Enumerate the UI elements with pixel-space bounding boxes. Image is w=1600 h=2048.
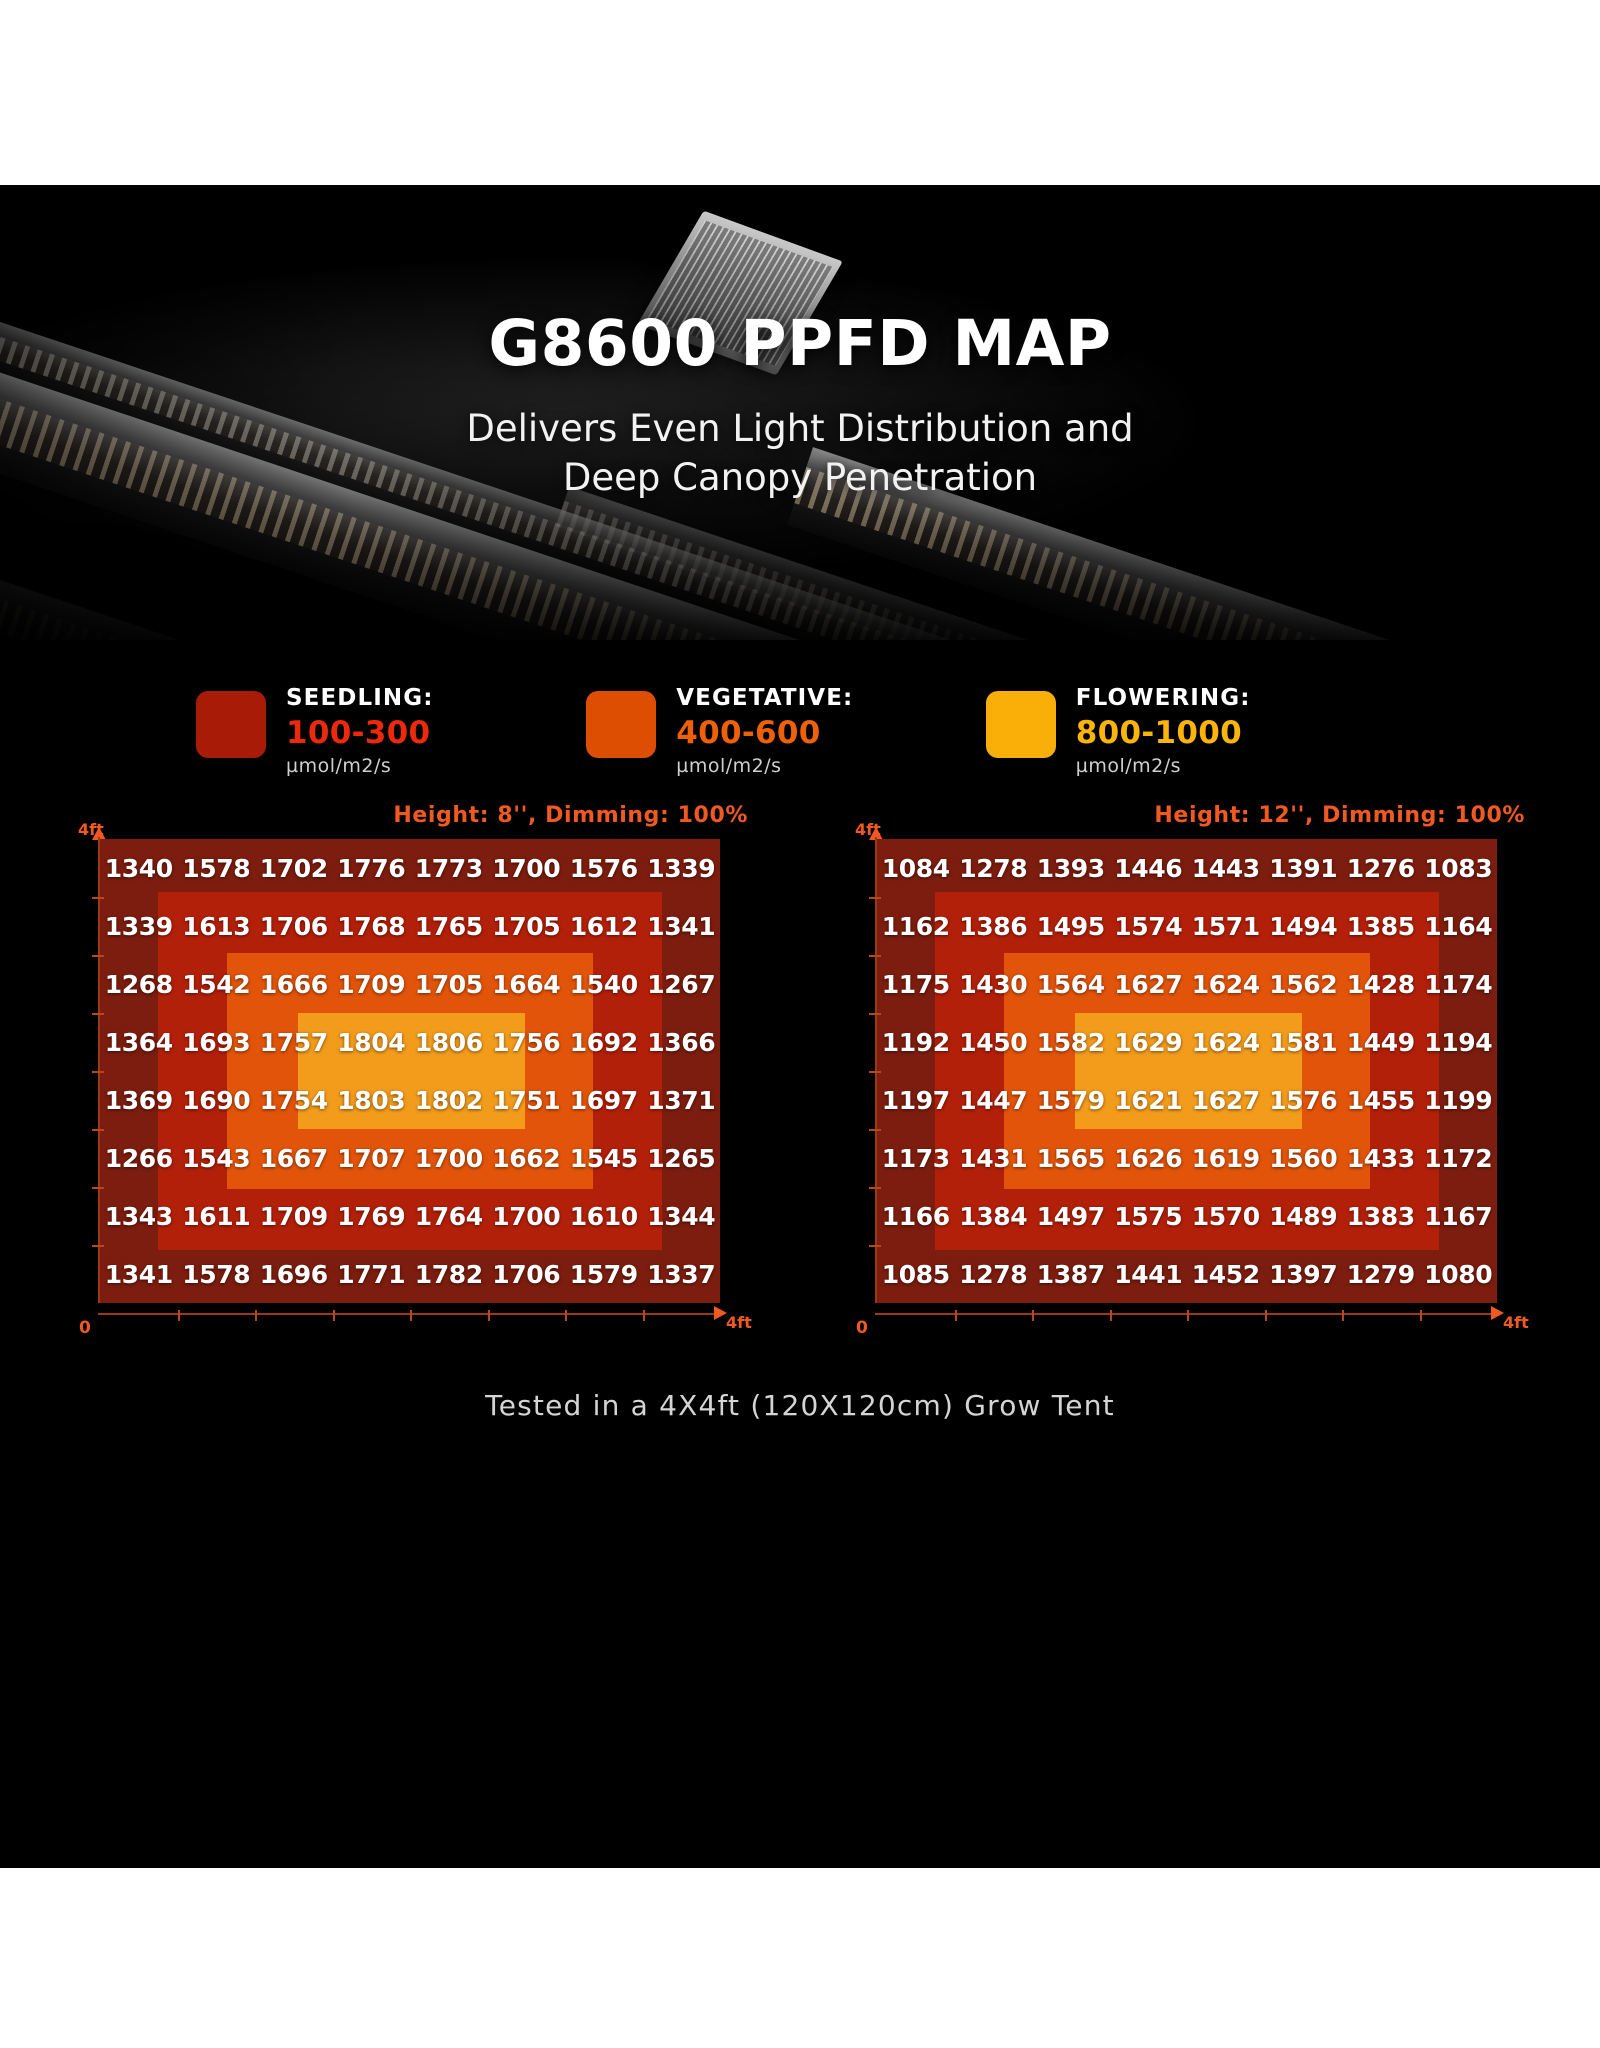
x-axis-tick [1032,1310,1034,1321]
subtitle-line-1: Delivers Even Light Distribution and [0,404,1600,453]
heatmap-cell: 1085 [877,1245,955,1303]
y-axis-tick [92,1245,104,1247]
heatmap-cell: 1578 [178,839,256,897]
heatmap-cell: 1337 [643,1245,721,1303]
heatmap-cell: 1565 [1032,1129,1110,1187]
x-axis-tick [1420,1310,1422,1321]
heatmap-cell: 1495 [1032,897,1110,955]
subtitle-line-2: Deep Canopy Penetration [0,453,1600,502]
heatmap-cell: 1393 [1032,839,1110,897]
heatmap-cell: 1080 [1420,1245,1498,1303]
heatmap-cell: 1576 [1265,1071,1343,1129]
heatmap-plot-12in: 1084127813931446144313911276108311621386… [877,839,1497,1303]
heatmap-cell: 1387 [1032,1245,1110,1303]
heatmap-cell: 1579 [565,1245,643,1303]
heatmap-cell: 1709 [333,955,411,1013]
heatmap-cell: 1776 [333,839,411,897]
x-axis-line [875,1313,1497,1315]
heatmap-cell: 1450 [955,1013,1033,1071]
heatmap-cell: 1626 [1110,1129,1188,1187]
heatmap-cell: 1757 [255,1013,333,1071]
heatmap-cell: 1447 [955,1071,1033,1129]
heatmap-cell: 1621 [1110,1071,1188,1129]
heatmap-cell: 1613 [178,897,256,955]
heatmap-title-12in: Height: 12'', Dimming: 100% [1154,803,1525,828]
legend-label-flowering: FLOWERING: [1076,685,1251,711]
legend-range-flowering: 800-1000 [1076,715,1251,751]
y-axis-tick [869,1245,881,1247]
y-axis-tick [869,1013,881,1015]
legend-unit-seedling: µmol/m2/s [286,755,434,777]
heatmap-cell: 1164 [1420,897,1498,955]
y-axis-tick [92,897,104,899]
heatmap-cell: 1582 [1032,1013,1110,1071]
x-axis-line [98,1313,720,1315]
heatmap-cell: 1627 [1187,1071,1265,1129]
heatmap-cell: 1341 [100,1245,178,1303]
x-axis-tick [1342,1310,1344,1321]
x-axis-tick [1110,1310,1112,1321]
heatmap-cell: 1560 [1265,1129,1343,1187]
heatmap-cell: 1571 [1187,897,1265,955]
legend-range-seedling: 100-300 [286,715,434,751]
heatmap-cell: 1764 [410,1187,488,1245]
poster-dark-area: G8600 PPFD MAP Delivers Even Light Distr… [0,185,1600,1868]
heatmap-cell: 1174 [1420,955,1498,1013]
heatmap-cell: 1162 [877,897,955,955]
heatmap-cell: 1581 [1265,1013,1343,1071]
heatmap-cell: 1489 [1265,1187,1343,1245]
heatmap-cell: 1197 [877,1071,955,1129]
heatmap-title-8in: Height: 8'', Dimming: 100% [393,803,748,828]
heatmap-cell: 1664 [488,955,566,1013]
heatmap-cell: 1540 [565,955,643,1013]
test-condition-caption: Tested in a 4X4ft (120X120cm) Grow Tent [0,1389,1600,1422]
heatmap-cell: 1612 [565,897,643,955]
heatmap-cell: 1803 [333,1071,411,1129]
ppfd-heatmap-height-8in: Height: 8'', Dimming: 100% 4ft 4ft 0 134… [78,803,778,1363]
heatmap-cell: 1693 [178,1013,256,1071]
heatmap-cell: 1700 [488,839,566,897]
heatmap-cell: 1578 [178,1245,256,1303]
y-axis-tick [869,1187,881,1189]
heatmap-cell: 1167 [1420,1187,1498,1245]
legend-item-seedling: SEEDLING: 100-300 µmol/m2/s [196,685,586,777]
ppfd-heatmaps: Height: 8'', Dimming: 100% 4ft 4ft 0 134… [0,803,1600,1363]
heatmap-cell: 1564 [1032,955,1110,1013]
x-axis-tick [565,1310,567,1321]
heatmap-cell: 1627 [1110,955,1188,1013]
x-axis-tick [1265,1310,1267,1321]
heatmap-cell: 1706 [488,1245,566,1303]
legend-range-vegetative: 400-600 [676,715,853,751]
heatmap-cells-8in: 1340157817021776177317001576133913391613… [100,839,720,1303]
heatmap-cell: 1575 [1110,1187,1188,1245]
heatmap-cell: 1428 [1342,955,1420,1013]
heatmap-cell: 1449 [1342,1013,1420,1071]
heatmap-cell: 1806 [410,1013,488,1071]
heatmap-cell: 1166 [877,1187,955,1245]
legend-unit-vegetative: µmol/m2/s [676,755,853,777]
heatmap-cell: 1366 [643,1013,721,1071]
x-axis-tick [643,1310,645,1321]
heatmap-cell: 1364 [100,1013,178,1071]
heatmap-cell: 1083 [1420,839,1498,897]
heatmap-cell: 1172 [1420,1129,1498,1187]
heatmap-cell: 1340 [100,839,178,897]
heatmap-cell: 1278 [955,839,1033,897]
x-axis-tick [255,1310,257,1321]
heatmap-cell: 1576 [565,839,643,897]
y-axis-tick [869,1071,881,1073]
heatmap-cell: 1369 [100,1071,178,1129]
heatmap-cell: 1433 [1342,1129,1420,1187]
heatmap-cell: 1267 [643,955,721,1013]
heatmap-cell: 1494 [1265,897,1343,955]
heatmap-cell: 1173 [877,1129,955,1187]
heatmap-cell: 1084 [877,839,955,897]
x-axis-label-8in: 4ft [726,1313,752,1332]
heatmap-cell: 1452 [1187,1245,1265,1303]
y-axis-tick [869,1129,881,1131]
heatmap-cell: 1431 [955,1129,1033,1187]
heatmap-cell: 1705 [488,897,566,955]
heatmap-cell: 1802 [410,1071,488,1129]
page-subtitle: Delivers Even Light Distribution and Dee… [0,404,1600,502]
heatmap-cell: 1443 [1187,839,1265,897]
heatmap-cell: 1709 [255,1187,333,1245]
heatmap-cell: 1705 [410,955,488,1013]
heatmap-cell: 1700 [410,1129,488,1187]
axis-origin-label-8in: 0 [79,1318,91,1338]
heatmap-cell: 1782 [410,1245,488,1303]
axis-origin-label-12in: 0 [856,1318,868,1338]
heatmap-cell: 1430 [955,955,1033,1013]
x-axis-tick [1187,1310,1189,1321]
heatmap-cell: 1384 [955,1187,1033,1245]
heatmap-cell: 1383 [1342,1187,1420,1245]
heatmap-plot-8in: 1340157817021776177317001576133913391613… [100,839,720,1303]
page-title: G8600 PPFD MAP [0,307,1600,380]
heatmap-cell: 1619 [1187,1129,1265,1187]
heatmap-cell: 1543 [178,1129,256,1187]
legend-label-vegetative: VEGETATIVE: [676,685,853,711]
heatmap-cell: 1391 [1265,839,1343,897]
legend-item-flowering: FLOWERING: 800-1000 µmol/m2/s [986,685,1376,777]
heatmap-cell: 1371 [643,1071,721,1129]
ppfd-stage-legend: SEEDLING: 100-300 µmol/m2/s VEGETATIVE: … [196,685,1376,777]
x-axis-tick [488,1310,490,1321]
y-axis-tick [92,1129,104,1131]
heatmap-cell: 1276 [1342,839,1420,897]
heatmap-cell: 1756 [488,1013,566,1071]
heatmap-cell: 1339 [100,897,178,955]
y-axis-tick [869,955,881,957]
heatmap-cell: 1768 [333,897,411,955]
heatmap-cell: 1702 [255,839,333,897]
heatmap-cell: 1441 [1110,1245,1188,1303]
legend-swatch-vegetative [586,691,656,758]
heatmap-cell: 1343 [100,1187,178,1245]
heatmap-cell: 1574 [1110,897,1188,955]
heatmap-cell: 1268 [100,955,178,1013]
y-axis-tick [92,1013,104,1015]
heatmap-cell: 1199 [1420,1071,1498,1129]
y-axis-tick [869,897,881,899]
heatmap-cell: 1341 [643,897,721,955]
legend-unit-flowering: µmol/m2/s [1076,755,1251,777]
heatmap-cell: 1707 [333,1129,411,1187]
heatmap-cell: 1497 [1032,1187,1110,1245]
heatmap-cell: 1579 [1032,1071,1110,1129]
x-axis-label-12in: 4ft [1503,1313,1529,1332]
heatmap-cell: 1192 [877,1013,955,1071]
y-axis-tick [92,1187,104,1189]
y-axis-tick [92,1071,104,1073]
heatmap-cell: 1700 [488,1187,566,1245]
heatmap-cell: 1692 [565,1013,643,1071]
heatmap-cell: 1542 [178,955,256,1013]
x-axis-tick [955,1310,957,1321]
heatmap-cell: 1385 [1342,897,1420,955]
x-axis-tick [333,1310,335,1321]
heatmap-cell: 1773 [410,839,488,897]
heatmap-cell: 1696 [255,1245,333,1303]
x-axis-tick [410,1310,412,1321]
heatmap-cell: 1545 [565,1129,643,1187]
ppfd-map-poster: G8600 PPFD MAP Delivers Even Light Distr… [0,0,1600,2048]
ppfd-heatmap-height-12in: Height: 12'', Dimming: 100% 4ft 4ft 0 10… [855,803,1555,1363]
title-block: G8600 PPFD MAP Delivers Even Light Distr… [0,185,1600,502]
heatmap-cell: 1765 [410,897,488,955]
heatmap-cell: 1771 [333,1245,411,1303]
heatmap-cell: 1397 [1265,1245,1343,1303]
heatmap-cell: 1804 [333,1013,411,1071]
heatmap-cell: 1667 [255,1129,333,1187]
heatmap-cell: 1666 [255,955,333,1013]
heatmap-cell: 1455 [1342,1071,1420,1129]
legend-swatch-flowering [986,691,1056,758]
heatmap-cell: 1690 [178,1071,256,1129]
heatmap-cells-12in: 1084127813931446144313911276108311621386… [877,839,1497,1303]
legend-item-vegetative: VEGETATIVE: 400-600 µmol/m2/s [586,685,986,777]
heatmap-cell: 1570 [1187,1187,1265,1245]
heatmap-cell: 1279 [1342,1245,1420,1303]
heatmap-cell: 1194 [1420,1013,1498,1071]
heatmap-cell: 1610 [565,1187,643,1245]
heatmap-cell: 1344 [643,1187,721,1245]
heatmap-cell: 1751 [488,1071,566,1129]
heatmap-cell: 1624 [1187,1013,1265,1071]
heatmap-cell: 1446 [1110,839,1188,897]
heatmap-cell: 1697 [565,1071,643,1129]
heatmap-cell: 1175 [877,955,955,1013]
heatmap-cell: 1278 [955,1245,1033,1303]
heatmap-cell: 1706 [255,897,333,955]
heatmap-cell: 1265 [643,1129,721,1187]
y-axis-tick [92,955,104,957]
heatmap-cell: 1386 [955,897,1033,955]
heatmap-cell: 1562 [1265,955,1343,1013]
legend-swatch-seedling [196,691,266,758]
heatmap-cell: 1754 [255,1071,333,1129]
heatmap-cell: 1611 [178,1187,256,1245]
heatmap-cell: 1629 [1110,1013,1188,1071]
heatmap-cell: 1624 [1187,955,1265,1013]
legend-label-seedling: SEEDLING: [286,685,434,711]
heatmap-cell: 1266 [100,1129,178,1187]
heatmap-cell: 1339 [643,839,721,897]
x-axis-tick [178,1310,180,1321]
heatmap-cell: 1769 [333,1187,411,1245]
heatmap-cell: 1662 [488,1129,566,1187]
